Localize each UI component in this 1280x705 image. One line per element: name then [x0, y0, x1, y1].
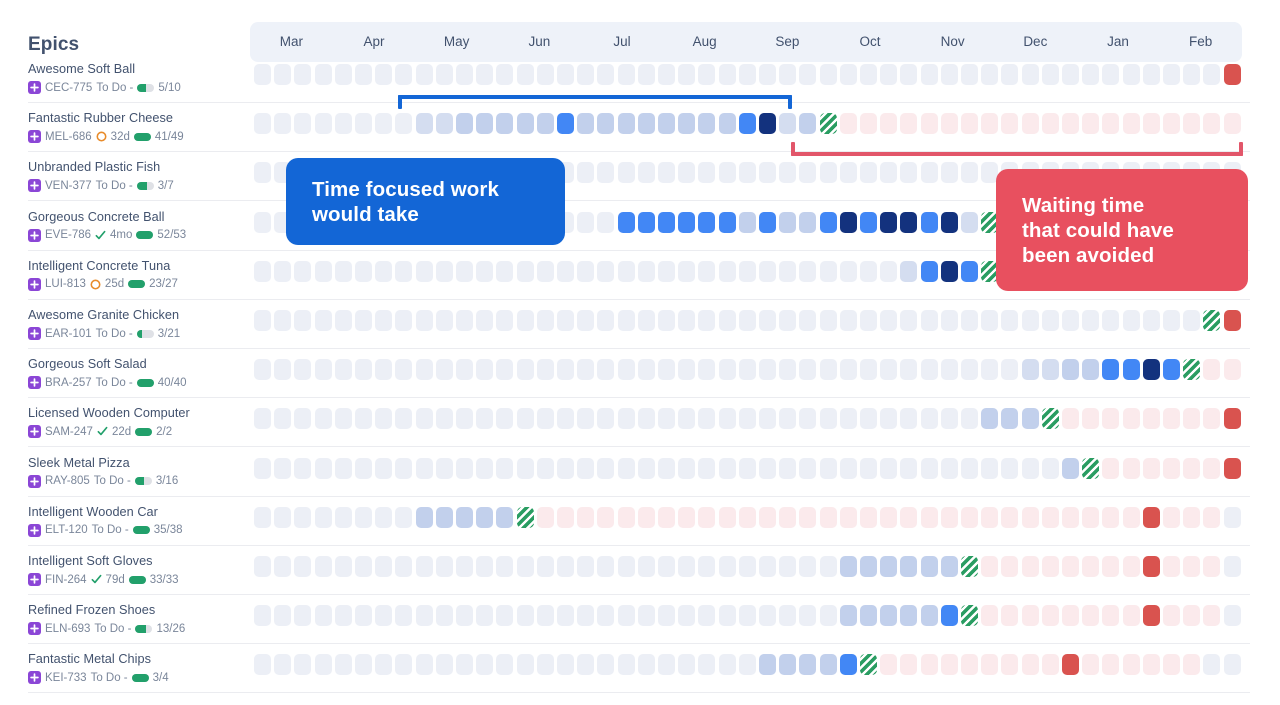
timeline-cell[interactable]: [678, 507, 695, 528]
timeline-cell[interactable]: [759, 458, 776, 479]
timeline-cell[interactable]: [739, 113, 756, 134]
timeline-cell[interactable]: [981, 556, 998, 577]
timeline-cell[interactable]: [1143, 507, 1160, 528]
timeline-cell[interactable]: [537, 605, 554, 626]
timeline-cell[interactable]: [1022, 113, 1039, 134]
timeline-cell[interactable]: [779, 64, 796, 85]
timeline-cell[interactable]: [315, 408, 332, 429]
timeline-cell[interactable]: [698, 359, 715, 380]
timeline-cell[interactable]: [981, 359, 998, 380]
timeline-cell[interactable]: [1082, 408, 1099, 429]
timeline-cell[interactable]: [436, 64, 453, 85]
timeline-cell[interactable]: [1163, 64, 1180, 85]
timeline-cell[interactable]: [416, 556, 433, 577]
timeline-cell[interactable]: [1102, 654, 1119, 675]
timeline-cell[interactable]: [416, 408, 433, 429]
timeline-cell[interactable]: [1042, 605, 1059, 626]
timeline-cell[interactable]: [395, 113, 412, 134]
timeline-cell[interactable]: [678, 113, 695, 134]
timeline-cell[interactable]: [1022, 64, 1039, 85]
timeline-cell[interactable]: [820, 212, 837, 233]
timeline-cell[interactable]: [840, 507, 857, 528]
timeline-cell[interactable]: [335, 654, 352, 675]
timeline-cell[interactable]: [880, 113, 897, 134]
timeline-cell[interactable]: [900, 507, 917, 528]
timeline-cell[interactable]: [820, 408, 837, 429]
timeline-cell[interactable]: [1001, 458, 1018, 479]
timeline-cell[interactable]: [840, 212, 857, 233]
timeline-cell[interactable]: [375, 64, 392, 85]
timeline-cell[interactable]: [355, 113, 372, 134]
timeline-cell[interactable]: [1163, 408, 1180, 429]
timeline-cell[interactable]: [698, 408, 715, 429]
timeline-cell[interactable]: [294, 605, 311, 626]
timeline-cell[interactable]: [698, 162, 715, 183]
timeline-cell[interactable]: [698, 507, 715, 528]
timeline-cell[interactable]: [658, 212, 675, 233]
timeline-cell[interactable]: [456, 556, 473, 577]
timeline-cell[interactable]: [900, 605, 917, 626]
timeline-cell[interactable]: [436, 458, 453, 479]
timeline-cell[interactable]: [759, 408, 776, 429]
timeline-cell[interactable]: [416, 359, 433, 380]
timeline-cell[interactable]: [961, 359, 978, 380]
timeline-cell[interactable]: [496, 605, 513, 626]
timeline-cell[interactable]: [1224, 507, 1241, 528]
timeline-cell[interactable]: [496, 654, 513, 675]
timeline-cell[interactable]: [820, 113, 837, 134]
timeline-cell[interactable]: [1042, 654, 1059, 675]
timeline-cell[interactable]: [658, 113, 675, 134]
timeline-cell[interactable]: [1183, 64, 1200, 85]
timeline-cell[interactable]: [254, 359, 271, 380]
timeline-cell[interactable]: [1001, 654, 1018, 675]
timeline-cell[interactable]: [1143, 359, 1160, 380]
timeline-cell[interactable]: [577, 64, 594, 85]
timeline-cell[interactable]: [961, 507, 978, 528]
timeline-cell[interactable]: [557, 408, 574, 429]
timeline-cell[interactable]: [739, 654, 756, 675]
timeline-cell[interactable]: [557, 310, 574, 331]
timeline-cell[interactable]: [739, 605, 756, 626]
timeline-cell[interactable]: [1082, 64, 1099, 85]
timeline-cell[interactable]: [698, 310, 715, 331]
timeline-cell[interactable]: [456, 458, 473, 479]
timeline-cell[interactable]: [759, 64, 776, 85]
timeline-cell[interactable]: [799, 458, 816, 479]
timeline-cell[interactable]: [436, 605, 453, 626]
timeline-cell[interactable]: [597, 310, 614, 331]
timeline-cell[interactable]: [456, 507, 473, 528]
timeline-cell[interactable]: [739, 556, 756, 577]
timeline-cell[interactable]: [335, 359, 352, 380]
timeline-cell[interactable]: [537, 310, 554, 331]
epic-key[interactable]: EAR-101: [45, 328, 92, 340]
timeline-cell[interactable]: [981, 113, 998, 134]
timeline-cell[interactable]: [597, 261, 614, 282]
timeline-cell[interactable]: [719, 507, 736, 528]
timeline-cell[interactable]: [799, 261, 816, 282]
timeline-cell[interactable]: [799, 64, 816, 85]
timeline-cell[interactable]: [335, 605, 352, 626]
timeline-cell[interactable]: [1163, 359, 1180, 380]
timeline-cell[interactable]: [900, 64, 917, 85]
timeline-cell[interactable]: [274, 359, 291, 380]
timeline-cell[interactable]: [941, 556, 958, 577]
timeline-cell[interactable]: [294, 359, 311, 380]
timeline-cell[interactable]: [658, 556, 675, 577]
timeline-cell[interactable]: [739, 359, 756, 380]
epic-key[interactable]: LUI-813: [45, 278, 86, 290]
timeline-cell[interactable]: [335, 310, 352, 331]
timeline-cell[interactable]: [254, 64, 271, 85]
timeline-cell[interactable]: [739, 458, 756, 479]
timeline-cell[interactable]: [476, 310, 493, 331]
epic-key[interactable]: ELN-693: [45, 623, 90, 635]
timeline-cell[interactable]: [779, 162, 796, 183]
timeline-cell[interactable]: [941, 212, 958, 233]
timeline-cell[interactable]: [860, 162, 877, 183]
timeline-cell[interactable]: [739, 162, 756, 183]
timeline-cell[interactable]: [779, 556, 796, 577]
timeline-cell[interactable]: [638, 359, 655, 380]
timeline-cell[interactable]: [254, 310, 271, 331]
timeline-cell[interactable]: [577, 556, 594, 577]
timeline-cell[interactable]: [921, 605, 938, 626]
timeline-cell[interactable]: [335, 64, 352, 85]
timeline-cell[interactable]: [436, 654, 453, 675]
timeline-cell[interactable]: [618, 162, 635, 183]
timeline-cell[interactable]: [1022, 359, 1039, 380]
timeline-cell[interactable]: [799, 408, 816, 429]
timeline-cell[interactable]: [456, 605, 473, 626]
timeline-cell[interactable]: [274, 507, 291, 528]
timeline-cell[interactable]: [698, 64, 715, 85]
timeline-cell[interactable]: [1163, 556, 1180, 577]
timeline-cell[interactable]: [577, 359, 594, 380]
epic-row-label[interactable]: Unbranded Plastic FishVEN-377To Do -3/7: [28, 160, 258, 192]
timeline-cell[interactable]: [779, 654, 796, 675]
timeline-cell[interactable]: [577, 261, 594, 282]
epic-row-label[interactable]: Licensed Wooden ComputerSAM-24722d2/2: [28, 406, 258, 438]
timeline-cell[interactable]: [456, 310, 473, 331]
timeline-cell[interactable]: [739, 64, 756, 85]
timeline-cell[interactable]: [557, 359, 574, 380]
timeline-cell[interactable]: [840, 408, 857, 429]
timeline-cell[interactable]: [517, 654, 534, 675]
epic-row-label[interactable]: Gorgeous Soft SaladBRA-257To Do -40/40: [28, 357, 258, 389]
timeline-cell[interactable]: [315, 507, 332, 528]
epic-row-label[interactable]: Intelligent Concrete TunaLUI-81325d23/27: [28, 259, 258, 291]
timeline-cell[interactable]: [880, 507, 897, 528]
timeline-cell[interactable]: [618, 654, 635, 675]
timeline-cell[interactable]: [416, 261, 433, 282]
timeline-cell[interactable]: [840, 261, 857, 282]
timeline-cell[interactable]: [678, 261, 695, 282]
timeline-cell[interactable]: [315, 261, 332, 282]
timeline-cell[interactable]: [294, 556, 311, 577]
timeline-cell[interactable]: [496, 408, 513, 429]
timeline-cell[interactable]: [759, 654, 776, 675]
timeline-cell[interactable]: [294, 458, 311, 479]
timeline-cell[interactable]: [294, 310, 311, 331]
timeline-cell[interactable]: [577, 605, 594, 626]
timeline-cell[interactable]: [779, 458, 796, 479]
timeline-cell[interactable]: [315, 458, 332, 479]
timeline-cell[interactable]: [476, 261, 493, 282]
timeline-cell[interactable]: [658, 458, 675, 479]
timeline-cell[interactable]: [456, 64, 473, 85]
timeline-cell[interactable]: [577, 310, 594, 331]
timeline-cell[interactable]: [1224, 605, 1241, 626]
timeline-cell[interactable]: [1102, 507, 1119, 528]
timeline-cell[interactable]: [315, 359, 332, 380]
timeline-cell[interactable]: [739, 212, 756, 233]
timeline-cell[interactable]: [678, 162, 695, 183]
timeline-cell[interactable]: [961, 310, 978, 331]
timeline-cell[interactable]: [921, 654, 938, 675]
timeline-cell[interactable]: [921, 458, 938, 479]
epic-key[interactable]: VEN-377: [45, 180, 92, 192]
timeline-cell[interactable]: [1042, 310, 1059, 331]
timeline-cell[interactable]: [1123, 605, 1140, 626]
timeline-cell[interactable]: [799, 359, 816, 380]
timeline-cell[interactable]: [981, 310, 998, 331]
timeline-cell[interactable]: [1224, 408, 1241, 429]
timeline-cell[interactable]: [1042, 113, 1059, 134]
timeline-cell[interactable]: [719, 458, 736, 479]
timeline-cell[interactable]: [638, 507, 655, 528]
timeline-cell[interactable]: [1183, 507, 1200, 528]
timeline-cell[interactable]: [1102, 113, 1119, 134]
timeline-cell[interactable]: [1123, 359, 1140, 380]
timeline-cell[interactable]: [1042, 408, 1059, 429]
timeline-cell[interactable]: [900, 261, 917, 282]
timeline-cell[interactable]: [537, 261, 554, 282]
timeline-cell[interactable]: [840, 310, 857, 331]
timeline-cell[interactable]: [1163, 458, 1180, 479]
timeline-cell[interactable]: [1163, 507, 1180, 528]
timeline-cell[interactable]: [658, 408, 675, 429]
timeline-cell[interactable]: [961, 162, 978, 183]
timeline-cell[interactable]: [254, 654, 271, 675]
timeline-cell[interactable]: [355, 507, 372, 528]
timeline-cell[interactable]: [719, 654, 736, 675]
timeline-cell[interactable]: [416, 64, 433, 85]
timeline-cell[interactable]: [1102, 458, 1119, 479]
timeline-cell[interactable]: [375, 605, 392, 626]
timeline-cell[interactable]: [820, 654, 837, 675]
timeline-cell[interactable]: [537, 408, 554, 429]
timeline-cell[interactable]: [658, 64, 675, 85]
timeline-cell[interactable]: [1183, 408, 1200, 429]
timeline-cell[interactable]: [1123, 113, 1140, 134]
timeline-cell[interactable]: [496, 261, 513, 282]
epic-key[interactable]: BRA-257: [45, 377, 92, 389]
timeline-cell[interactable]: [1001, 310, 1018, 331]
timeline-cell[interactable]: [1082, 556, 1099, 577]
timeline-cell[interactable]: [416, 654, 433, 675]
timeline-cell[interactable]: [597, 212, 614, 233]
timeline-cell[interactable]: [395, 359, 412, 380]
timeline-cell[interactable]: [496, 64, 513, 85]
timeline-cell[interactable]: [921, 261, 938, 282]
timeline-cell[interactable]: [860, 113, 877, 134]
timeline-cell[interactable]: [880, 458, 897, 479]
timeline-cell[interactable]: [779, 359, 796, 380]
timeline-cell[interactable]: [779, 408, 796, 429]
timeline-cell[interactable]: [1062, 408, 1079, 429]
timeline-cell[interactable]: [254, 556, 271, 577]
timeline-cell[interactable]: [1022, 556, 1039, 577]
timeline-cell[interactable]: [638, 64, 655, 85]
timeline-cell[interactable]: [1203, 64, 1220, 85]
timeline-cell[interactable]: [880, 162, 897, 183]
timeline-cell[interactable]: [496, 359, 513, 380]
timeline-cell[interactable]: [1001, 408, 1018, 429]
timeline-cell[interactable]: [1042, 556, 1059, 577]
timeline-cell[interactable]: [779, 605, 796, 626]
timeline-cell[interactable]: [1123, 64, 1140, 85]
timeline-cell[interactable]: [719, 556, 736, 577]
timeline-cell[interactable]: [1143, 605, 1160, 626]
timeline-cell[interactable]: [779, 113, 796, 134]
timeline-cell[interactable]: [355, 310, 372, 331]
timeline-cell[interactable]: [557, 113, 574, 134]
timeline-cell[interactable]: [860, 507, 877, 528]
timeline-cell[interactable]: [880, 359, 897, 380]
timeline-cell[interactable]: [517, 113, 534, 134]
timeline-cell[interactable]: [981, 605, 998, 626]
timeline-cell[interactable]: [860, 64, 877, 85]
timeline-cell[interactable]: [840, 458, 857, 479]
timeline-cell[interactable]: [961, 654, 978, 675]
timeline-cell[interactable]: [597, 408, 614, 429]
timeline-cell[interactable]: [1062, 605, 1079, 626]
timeline-cell[interactable]: [557, 507, 574, 528]
epic-key[interactable]: ELT-120: [45, 524, 88, 536]
timeline-cell[interactable]: [375, 556, 392, 577]
timeline-cell[interactable]: [395, 507, 412, 528]
timeline-cell[interactable]: [517, 310, 534, 331]
timeline-cell[interactable]: [476, 507, 493, 528]
timeline-cell[interactable]: [658, 310, 675, 331]
timeline-cell[interactable]: [517, 556, 534, 577]
timeline-cell[interactable]: [1001, 507, 1018, 528]
timeline-cell[interactable]: [658, 507, 675, 528]
timeline-cell[interactable]: [416, 507, 433, 528]
timeline-cell[interactable]: [941, 408, 958, 429]
timeline-cell[interactable]: [1022, 458, 1039, 479]
timeline-cell[interactable]: [456, 113, 473, 134]
timeline-cell[interactable]: [860, 654, 877, 675]
timeline-cell[interactable]: [1183, 113, 1200, 134]
timeline-cell[interactable]: [436, 113, 453, 134]
timeline-cell[interactable]: [820, 556, 837, 577]
timeline-cell[interactable]: [1224, 359, 1241, 380]
timeline-cell[interactable]: [395, 556, 412, 577]
timeline-cell[interactable]: [961, 408, 978, 429]
timeline-cell[interactable]: [1203, 507, 1220, 528]
timeline-cell[interactable]: [799, 113, 816, 134]
timeline-cell[interactable]: [1062, 113, 1079, 134]
timeline-cell[interactable]: [1082, 654, 1099, 675]
timeline-cell[interactable]: [618, 458, 635, 479]
timeline-cell[interactable]: [476, 458, 493, 479]
timeline-cell[interactable]: [355, 605, 372, 626]
timeline-cell[interactable]: [274, 113, 291, 134]
timeline-cell[interactable]: [820, 605, 837, 626]
timeline-cell[interactable]: [921, 556, 938, 577]
epic-row-label[interactable]: Refined Frozen ShoesELN-693To Do -13/26: [28, 603, 258, 635]
timeline-cell[interactable]: [1203, 458, 1220, 479]
timeline-cell[interactable]: [719, 261, 736, 282]
timeline-cell[interactable]: [1143, 113, 1160, 134]
timeline-cell[interactable]: [476, 64, 493, 85]
timeline-cell[interactable]: [921, 64, 938, 85]
timeline-cell[interactable]: [941, 654, 958, 675]
timeline-cell[interactable]: [1123, 556, 1140, 577]
timeline-cell[interactable]: [618, 359, 635, 380]
timeline-cell[interactable]: [355, 359, 372, 380]
timeline-cell[interactable]: [820, 458, 837, 479]
timeline-cell[interactable]: [1143, 556, 1160, 577]
timeline-cell[interactable]: [1082, 359, 1099, 380]
timeline-cell[interactable]: [1062, 310, 1079, 331]
timeline-cell[interactable]: [900, 162, 917, 183]
timeline-cell[interactable]: [537, 458, 554, 479]
timeline-cell[interactable]: [941, 507, 958, 528]
timeline-cell[interactable]: [355, 458, 372, 479]
timeline-cell[interactable]: [496, 113, 513, 134]
timeline-cell[interactable]: [436, 261, 453, 282]
timeline-cell[interactable]: [496, 310, 513, 331]
timeline-cell[interactable]: [1022, 310, 1039, 331]
timeline-cell[interactable]: [375, 408, 392, 429]
timeline-cell[interactable]: [719, 212, 736, 233]
timeline-cell[interactable]: [416, 310, 433, 331]
timeline-cell[interactable]: [335, 507, 352, 528]
timeline-cell[interactable]: [941, 605, 958, 626]
timeline-cell[interactable]: [597, 507, 614, 528]
timeline-cell[interactable]: [799, 310, 816, 331]
timeline-cell[interactable]: [456, 654, 473, 675]
timeline-cell[interactable]: [597, 458, 614, 479]
timeline-cell[interactable]: [1163, 654, 1180, 675]
timeline-cell[interactable]: [577, 507, 594, 528]
timeline-cell[interactable]: [1042, 64, 1059, 85]
timeline-cell[interactable]: [315, 605, 332, 626]
timeline-cell[interactable]: [638, 113, 655, 134]
timeline-cell[interactable]: [840, 162, 857, 183]
timeline-cell[interactable]: [1224, 458, 1241, 479]
timeline-cell[interactable]: [1022, 507, 1039, 528]
timeline-cell[interactable]: [395, 408, 412, 429]
timeline-cell[interactable]: [840, 64, 857, 85]
timeline-cell[interactable]: [537, 113, 554, 134]
timeline-cell[interactable]: [456, 261, 473, 282]
timeline-cell[interactable]: [315, 310, 332, 331]
timeline-cell[interactable]: [900, 556, 917, 577]
epic-key[interactable]: MEL-686: [45, 131, 92, 143]
timeline-cell[interactable]: [658, 605, 675, 626]
timeline-cell[interactable]: [961, 113, 978, 134]
timeline-cell[interactable]: [618, 310, 635, 331]
timeline-cell[interactable]: [678, 458, 695, 479]
timeline-cell[interactable]: [779, 310, 796, 331]
timeline-cell[interactable]: [517, 261, 534, 282]
timeline-cell[interactable]: [921, 359, 938, 380]
